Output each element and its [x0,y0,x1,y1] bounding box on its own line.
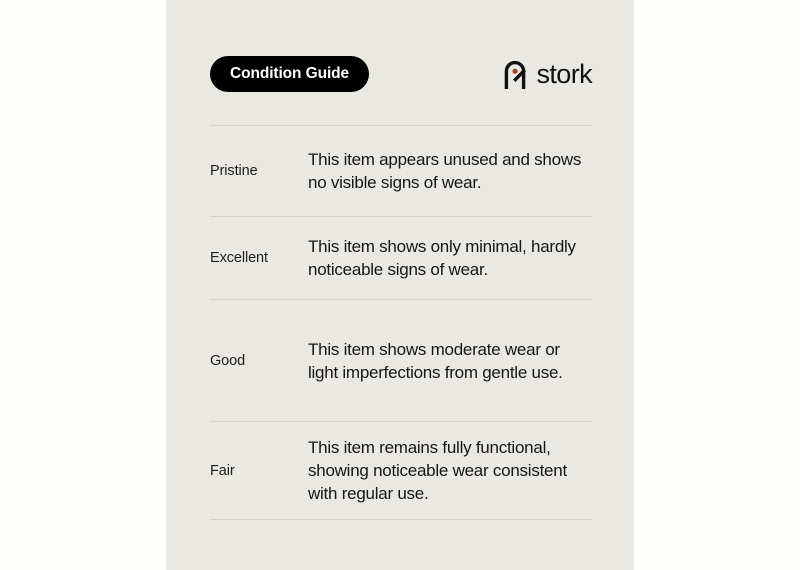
table-row: Excellent This item shows only minimal, … [210,217,592,299]
condition-guide-pill[interactable]: Condition Guide [210,56,369,92]
condition-description: This item shows moderate wear or light i… [308,338,592,384]
table-divider-bottom [210,519,592,520]
condition-table: Pristine This item appears unused and sh… [210,125,592,520]
condition-label: Good [210,353,308,369]
condition-guide-panel: Condition Guide stork Pristine This item… [166,0,634,570]
condition-label: Fair [210,463,308,479]
condition-label: Pristine [210,163,308,179]
condition-description: This item remains fully functional, show… [308,436,592,505]
table-row: Pristine This item appears unused and sh… [210,126,592,216]
brand-wordmark: stork [536,61,592,88]
stork-arch-logomark [503,59,527,89]
brand-logo: stork [503,54,592,94]
condition-label: Excellent [210,250,308,266]
table-row: Fair This item remains fully functional,… [210,422,592,519]
panel-header: Condition Guide stork [166,56,634,92]
table-row: Good This item shows moderate wear or li… [210,300,592,421]
condition-description: This item appears unused and shows no vi… [308,148,592,194]
condition-description: This item shows only minimal, hardly not… [308,235,592,281]
